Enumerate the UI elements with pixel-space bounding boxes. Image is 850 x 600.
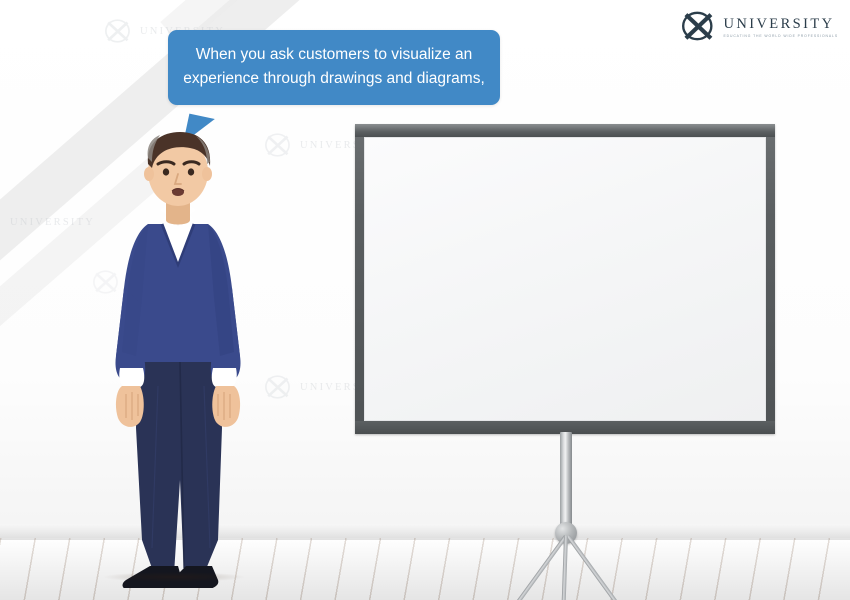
- brand-logo: UNIVERSITY EDUCATING THE WORLD WIDE PROF…: [680, 6, 838, 46]
- presenter-illustration: [100, 128, 270, 588]
- x-monogram-icon: [680, 6, 720, 46]
- projection-surface[interactable]: [364, 137, 766, 421]
- character-head: [144, 132, 212, 206]
- video-frame: UNIVERSITY UNIVERSITY UNIVERSITY UNIVERS…: [0, 0, 850, 600]
- screen-frame-top: [355, 124, 775, 137]
- character-trousers: [136, 354, 222, 574]
- speech-bubble-text: When you ask customers to visualize an e…: [182, 43, 486, 90]
- brand-tagline: EDUCATING THE WORLD WIDE PROFESSIONALS: [723, 34, 838, 38]
- presenter-character: [100, 128, 270, 588]
- screen-frame: [355, 124, 775, 434]
- projector-screen-unit: [355, 124, 775, 589]
- character-floor-shadow: [104, 572, 244, 582]
- speech-bubble: When you ask customers to visualize an e…: [168, 30, 500, 105]
- brand-name: UNIVERSITY: [723, 17, 838, 32]
- brand-logo-textblock: UNIVERSITY EDUCATING THE WORLD WIDE PROF…: [723, 14, 838, 38]
- tripod-pole: [560, 432, 572, 532]
